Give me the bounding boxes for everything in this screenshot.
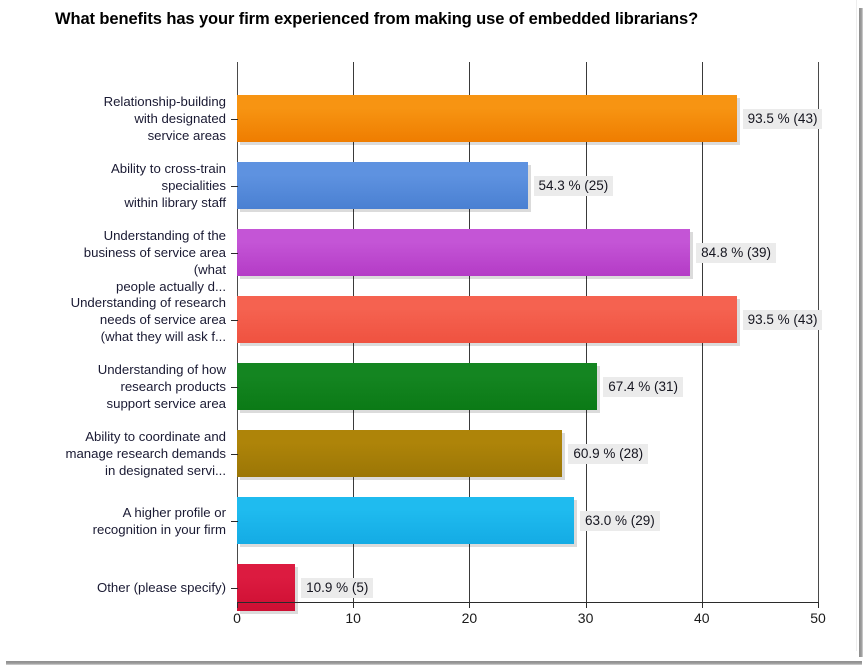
category-label-4: Understanding of how research products s… [48,361,226,412]
bar-3[interactable] [237,296,737,343]
y-tick-4 [231,387,238,388]
x-tick-20 [469,602,470,608]
data-label-6: 63.0 % (29) [580,511,660,531]
gridline-50 [818,62,819,602]
bar-2[interactable] [237,229,690,276]
data-label-1: 54.3 % (25) [534,176,614,196]
y-tick-2 [231,253,238,254]
y-tick-0 [231,119,238,120]
category-label-1: Ability to cross-train specialities with… [48,160,226,211]
x-tick-0 [237,602,238,608]
bar-4[interactable] [237,363,597,410]
chart-title: What benefits has your firm experienced … [55,10,698,29]
x-tick-50 [818,602,819,608]
x-axis-line [237,602,819,603]
data-label-5: 60.9 % (28) [568,444,648,464]
category-label-5: Ability to coordinate and manage researc… [48,428,226,479]
bar-6[interactable] [237,497,574,544]
x-tick-label-20: 20 [462,610,478,626]
category-label-3: Understanding of research needs of servi… [48,294,226,345]
x-tick-40 [702,602,703,608]
category-label-7: Other (please specify) [48,579,226,596]
frame-inner-line [856,0,857,651]
plot-area [237,62,818,602]
bar-5[interactable] [237,430,562,477]
x-tick-label-40: 40 [694,610,710,626]
y-tick-1 [231,186,238,187]
bar-0[interactable] [237,95,737,142]
x-tick-30 [586,602,587,608]
data-label-7: 10.9 % (5) [301,578,373,598]
y-tick-5 [231,454,238,455]
x-tick-label-50: 50 [810,610,826,626]
x-tick-label-0: 0 [233,610,241,626]
y-tick-6 [231,521,238,522]
frame-border-right [859,8,863,657]
frame-border-bottom [6,661,862,665]
x-tick-label-10: 10 [345,610,361,626]
data-label-3: 93.5 % (43) [743,310,823,330]
data-label-4: 67.4 % (31) [603,377,683,397]
category-label-2: Understanding of the business of service… [48,227,226,295]
data-label-0: 93.5 % (43) [743,109,823,129]
x-tick-label-30: 30 [578,610,594,626]
data-label-2: 84.8 % (39) [696,243,776,263]
x-tick-10 [353,602,354,608]
y-tick-7 [231,588,238,589]
y-tick-3 [231,320,238,321]
bar-7[interactable] [237,564,295,611]
category-label-6: A higher profile or recognition in your … [48,504,226,538]
chart-container: What benefits has your firm experienced … [0,0,865,667]
bar-1[interactable] [237,162,528,209]
category-label-0: Relationship-building with designated se… [48,93,226,144]
